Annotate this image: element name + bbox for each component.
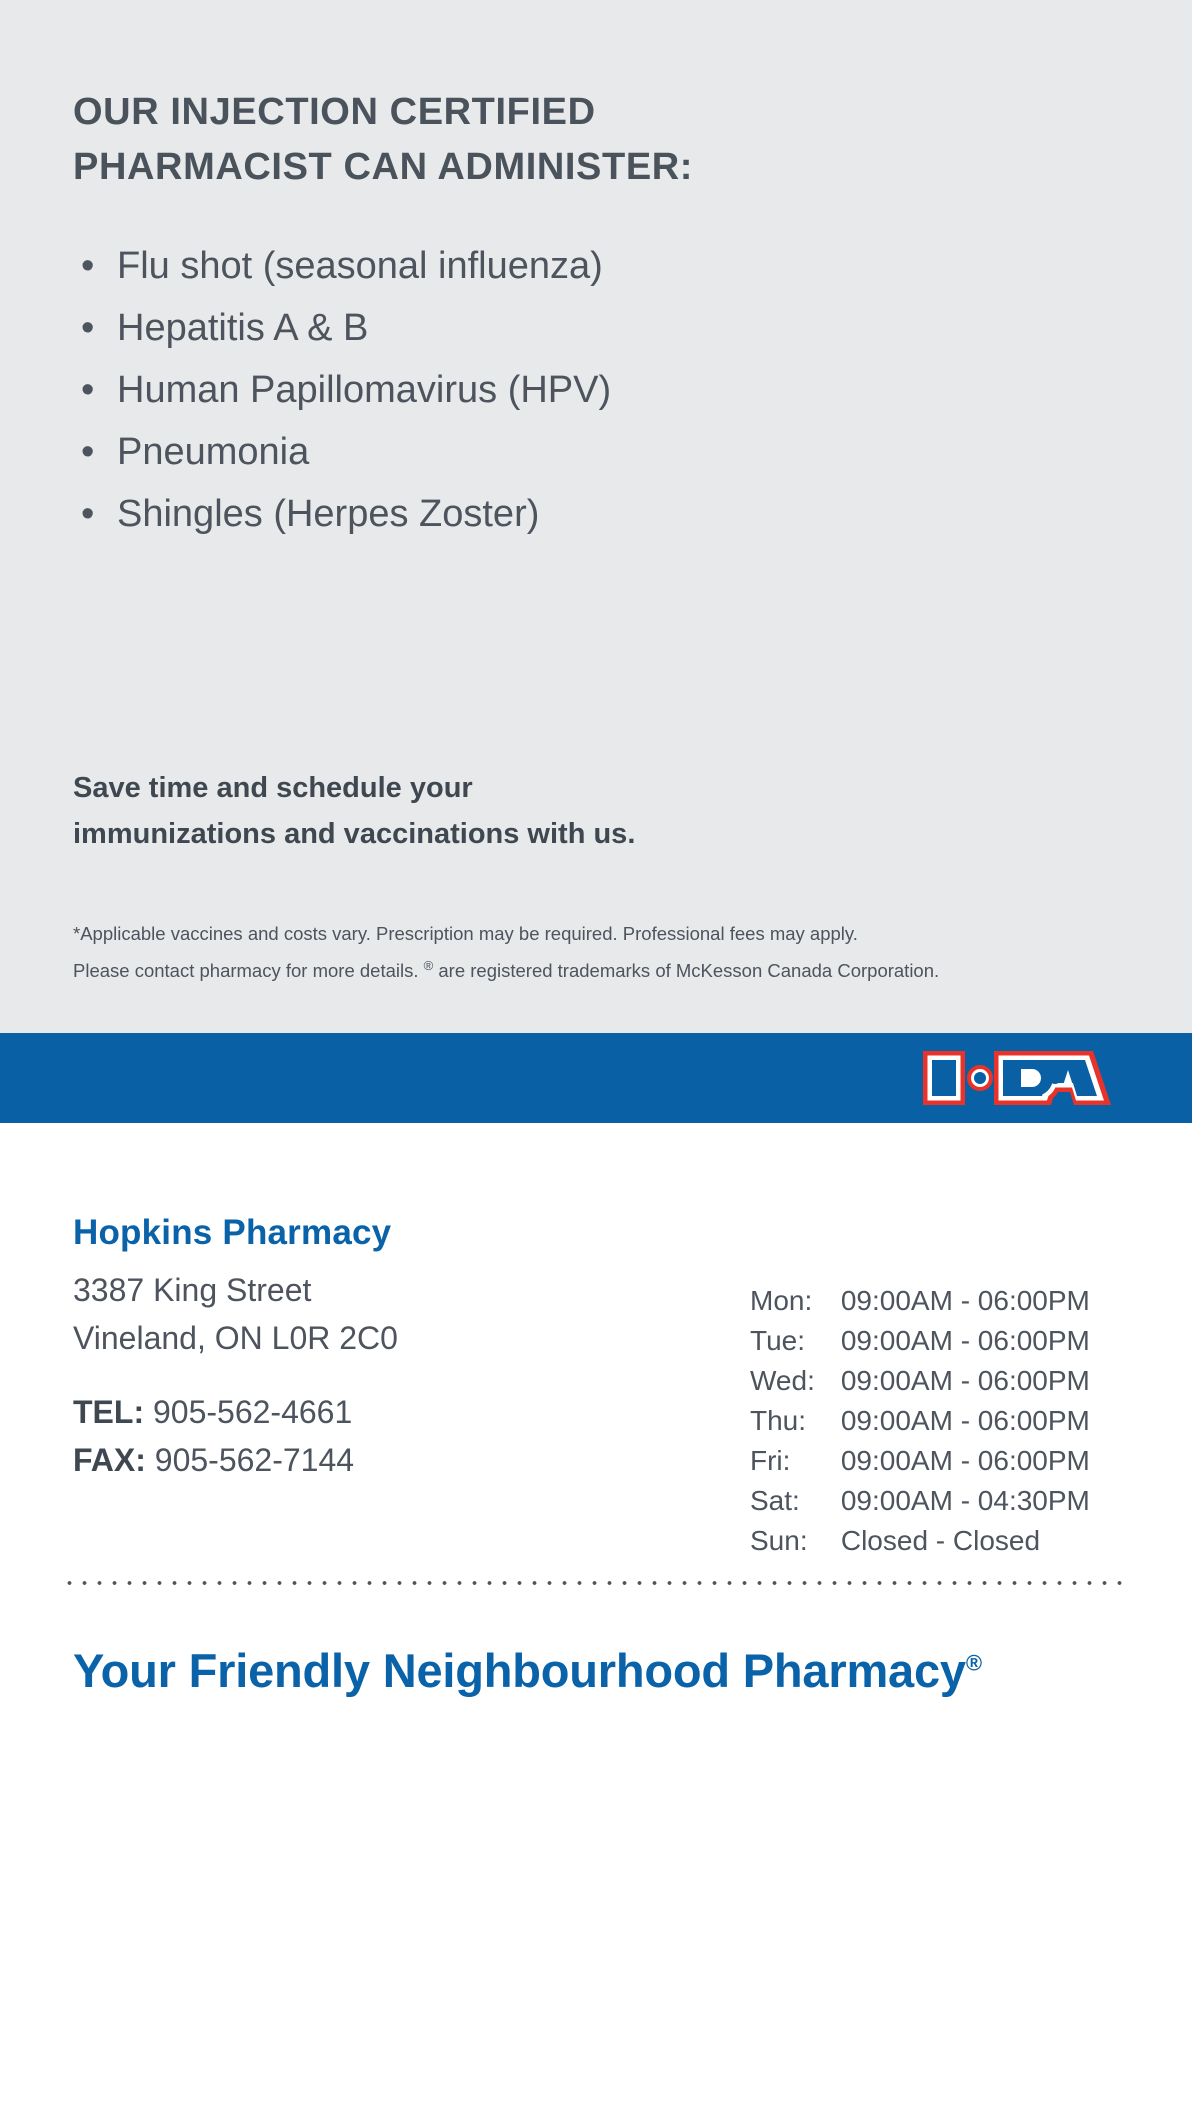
page-title-line-2: PHARMACIST CAN ADMINISTER: (73, 140, 893, 195)
registered-trademark-icon: ® (424, 958, 434, 973)
list-item-label: Flu shot (seasonal influenza) (117, 245, 603, 287)
table-row: Fri:09:00AM - 06:00PM (750, 1441, 1090, 1481)
store-name: Hopkins Pharmacy (73, 1213, 391, 1253)
disclaimer: *Applicable vaccines and costs vary. Pre… (73, 918, 1128, 987)
hours-day: Thu: (750, 1401, 841, 1441)
telephone-value[interactable]: 905-562-4661 (153, 1394, 352, 1430)
hours-day: Tue: (750, 1321, 841, 1361)
list-item: •Human Papillomavirus (HPV) (73, 359, 923, 421)
services-panel: OUR INJECTION CERTIFIED PHARMACIST CAN A… (0, 0, 1192, 1033)
hours-day: Fri: (750, 1441, 841, 1481)
list-item: •Flu shot (seasonal influenza) (73, 235, 923, 297)
table-row: Mon:09:00AM - 06:00PM (750, 1281, 1090, 1321)
call-to-action: Save time and schedule your immunization… (73, 765, 893, 858)
page-title-line-1: OUR INJECTION CERTIFIED (73, 85, 893, 140)
hours-day: Mon: (750, 1281, 841, 1321)
call-to-action-line-2: immunizations and vaccinations with us. (73, 811, 893, 857)
hours-day: Sat: (750, 1481, 841, 1521)
list-item-label: Shingles (Herpes Zoster) (117, 493, 539, 535)
telephone-label: TEL: (73, 1394, 144, 1430)
hours-time: Closed - Closed (841, 1521, 1090, 1561)
hours-time: 09:00AM - 06:00PM (841, 1401, 1090, 1441)
bullet-icon: • (81, 359, 94, 421)
store-address: 3387 King Street Vineland, ON L0R 2C0 (73, 1266, 398, 1362)
hours-day: Sun: (750, 1521, 841, 1561)
list-item-label: Pneumonia (117, 431, 309, 473)
bullet-icon: • (81, 297, 94, 359)
divider (62, 1580, 1127, 1586)
footer-tagline-text: Your Friendly Neighbourhood Pharmacy (73, 1644, 966, 1697)
ida-registered-trademark-icon: ® (1115, 2090, 1124, 2104)
fax-row: FAX: 905-562-7144 (73, 1436, 354, 1484)
hours-time: 09:00AM - 06:00PM (841, 1281, 1090, 1321)
ida-logo-icon (921, 1047, 1117, 1109)
table-row: Sun:Closed - Closed (750, 1521, 1090, 1561)
disclaimer-line-2-prefix: Please contact pharmacy for more details… (73, 960, 424, 981)
fax-label: FAX: (73, 1442, 146, 1478)
vaccine-list: •Flu shot (seasonal influenza) •Hepatiti… (73, 235, 923, 545)
list-item: •Pneumonia (73, 421, 923, 483)
table-row: Tue:09:00AM - 06:00PM (750, 1321, 1090, 1361)
flyer-page: OUR INJECTION CERTIFIED PHARMACIST CAN A… (0, 0, 1192, 1785)
address-line-2: Vineland, ON L0R 2C0 (73, 1314, 398, 1362)
hours-time: 09:00AM - 06:00PM (841, 1361, 1090, 1401)
fax-value: 905-562-7144 (155, 1442, 354, 1478)
table-row: Thu:09:00AM - 06:00PM (750, 1401, 1090, 1441)
hours-time: 09:00AM - 06:00PM (841, 1441, 1090, 1481)
hours-time: 09:00AM - 04:30PM (841, 1481, 1090, 1521)
footer-tagline: Your Friendly Neighbourhood Pharmacy® (73, 1643, 982, 1698)
bullet-icon: • (81, 421, 94, 483)
list-item-label: Hepatitis A & B (117, 307, 368, 349)
hours-time: 09:00AM - 06:00PM (841, 1321, 1090, 1361)
disclaimer-line-2: Please contact pharmacy for more details… (73, 950, 1128, 987)
bullet-icon: • (81, 483, 94, 545)
call-to-action-line-1: Save time and schedule your (73, 765, 893, 811)
store-hours-table: Mon:09:00AM - 06:00PM Tue:09:00AM - 06:0… (750, 1281, 1090, 1561)
list-item: •Shingles (Herpes Zoster) (73, 483, 923, 545)
brand-band: ® (0, 1033, 1192, 1123)
store-contact: TEL: 905-562-4661 FAX: 905-562-7144 (73, 1388, 354, 1484)
bullet-icon: • (81, 235, 94, 297)
hours-day: Wed: (750, 1361, 841, 1401)
address-line-1: 3387 King Street (73, 1266, 398, 1314)
telephone-row: TEL: 905-562-4661 (73, 1388, 354, 1436)
disclaimer-line-2-suffix: are registered trademarks of McKesson Ca… (433, 960, 939, 981)
disclaimer-line-1: *Applicable vaccines and costs vary. Pre… (73, 918, 1128, 950)
list-item-label: Human Papillomavirus (HPV) (117, 369, 611, 411)
table-row: Wed:09:00AM - 06:00PM (750, 1361, 1090, 1401)
tagline-registered-trademark-icon: ® (966, 1650, 982, 1675)
table-row: Sat:09:00AM - 04:30PM (750, 1481, 1090, 1521)
page-title: OUR INJECTION CERTIFIED PHARMACIST CAN A… (73, 85, 893, 195)
list-item: •Hepatitis A & B (73, 297, 923, 359)
